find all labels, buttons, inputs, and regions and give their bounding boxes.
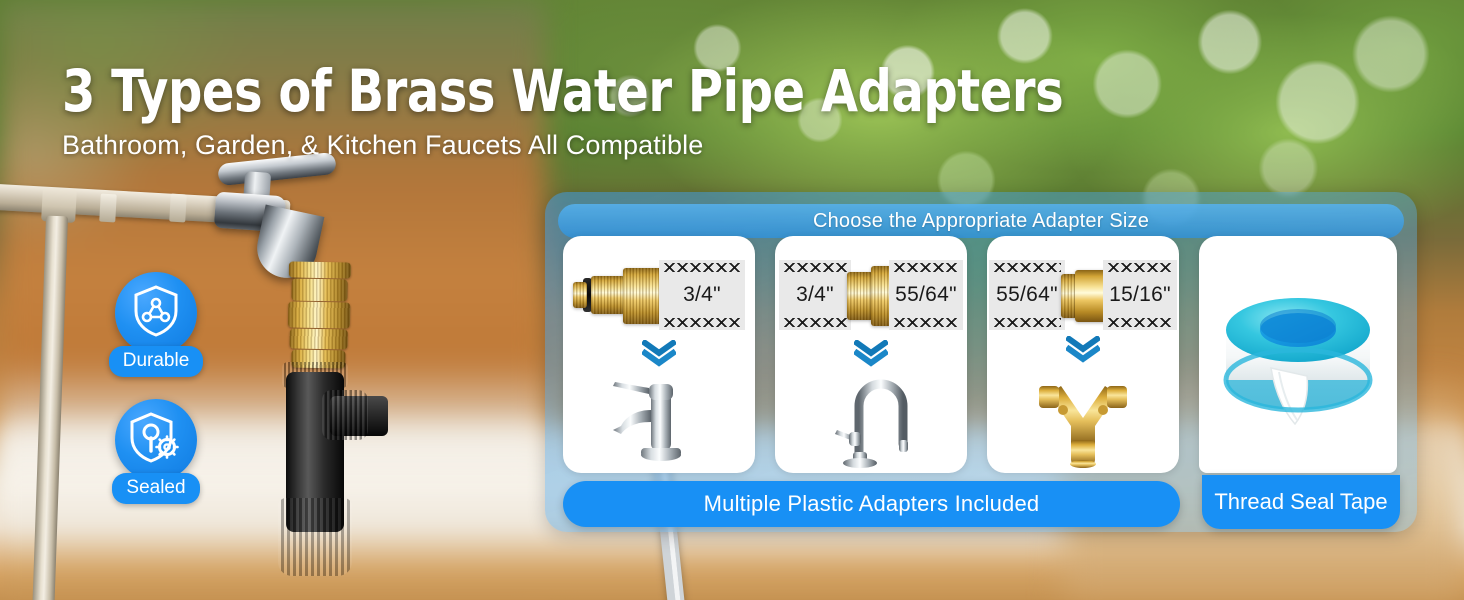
thread-zigzag-icon (993, 318, 1061, 327)
thread-zigzag-icon (993, 263, 1061, 272)
size-label-box: 55/64" (889, 260, 963, 330)
size-row: 3/4" (563, 254, 755, 338)
page-title: 3 Types of Brass Water Pipe Adapters (62, 62, 1063, 120)
brass-ring (291, 279, 347, 302)
size-row: 55/64" 15/16" (987, 254, 1179, 338)
adapter-card-kitchen[interactable]: 3/4" 55/64" (775, 236, 967, 473)
thread-zigzag-icon (663, 318, 741, 327)
brass-adapter (847, 272, 873, 320)
badge-label-durable: Durable (109, 346, 204, 377)
spigot-photo (0, 150, 560, 600)
product-banner: 3 Types of Brass Water Pipe Adapters Bat… (0, 0, 1464, 600)
badge-label-sealed: Sealed (112, 473, 199, 504)
shield-keyhole-gear-icon (129, 411, 183, 470)
ptfe-tape-roll (1199, 268, 1397, 448)
size-value: 3/4" (796, 283, 834, 307)
size-value: 55/64" (996, 283, 1058, 307)
thread-seal-tape-card[interactable] (1199, 236, 1397, 473)
pipe-collar (169, 194, 187, 223)
brass-adapter (573, 282, 587, 308)
page-subtitle: Bathroom, Garden, & Kitchen Faucets All … (62, 130, 1150, 161)
size-row: 3/4" 55/64" (775, 254, 967, 338)
double-chevron-down-icon (642, 340, 676, 372)
badge-durable: Durable (108, 272, 204, 377)
adapter-card-garden[interactable]: 55/64" 15/16" (987, 236, 1179, 473)
size-label-box: 3/4" (779, 260, 851, 330)
size-value: 55/64" (895, 283, 957, 307)
thread-seal-tape-label: Thread Seal Tape (1214, 489, 1387, 515)
thread-zigzag-icon (1107, 318, 1173, 327)
thread-zigzag-icon (663, 263, 741, 272)
size-label-box: 3/4" (659, 260, 745, 330)
plastic-adapters-label: Multiple Plastic Adapters Included (704, 491, 1040, 517)
diverter-nozzle (278, 498, 352, 576)
badge-circle (115, 399, 197, 481)
headline-block: 3 Types of Brass Water Pipe Adapters Bat… (62, 62, 1150, 161)
vertical-pipe (31, 216, 68, 600)
brass-y-splitter (987, 382, 1179, 468)
double-chevron-down-icon (1066, 336, 1100, 368)
size-value: 3/4" (683, 283, 721, 307)
adapter-cards: 3/4" (563, 236, 1397, 473)
thread-zigzag-icon (783, 318, 847, 327)
size-label-box: 15/16" (1103, 260, 1177, 330)
thread-zigzag-icon (893, 318, 959, 327)
size-value: 15/16" (1109, 283, 1171, 307)
badge-sealed: Sealed (108, 399, 204, 504)
brass-ring (290, 328, 348, 349)
brass-adapter (623, 268, 663, 324)
gooseneck-kitchen-faucet (775, 370, 967, 470)
thread-zigzag-icon (1107, 263, 1173, 272)
panel-header: Choose the Appropriate Adapter Size (558, 204, 1404, 238)
shield-molecule-icon (131, 284, 181, 343)
adapter-card-bathroom[interactable]: 3/4" (563, 236, 755, 473)
bathroom-basin-faucet (563, 376, 755, 468)
thread-zigzag-icon (783, 263, 847, 272)
thread-seal-tape-footer: Thread Seal Tape (1202, 475, 1400, 529)
size-label-box: 55/64" (989, 260, 1065, 330)
brass-ring (288, 301, 350, 328)
brass-adapter (591, 276, 625, 314)
double-chevron-down-icon (854, 340, 888, 372)
badge-circle (115, 272, 197, 354)
panel-header-label: Choose the Appropriate Adapter Size (813, 210, 1149, 233)
brass-ring (289, 261, 351, 278)
pipe-collar (99, 194, 117, 223)
thread-zigzag-icon (893, 263, 959, 272)
feature-badges: Durable (108, 272, 204, 526)
plastic-adapters-banner: Multiple Plastic Adapters Included (563, 481, 1180, 527)
